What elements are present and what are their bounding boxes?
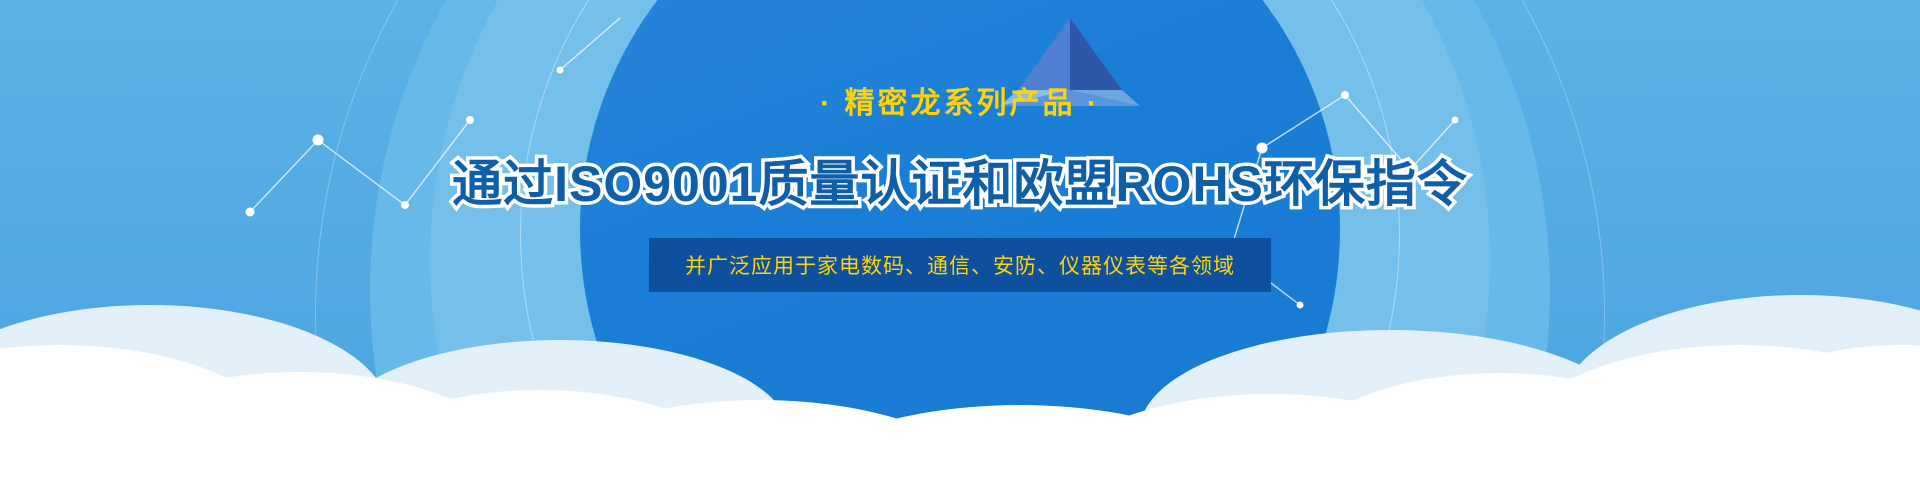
banner-headline: 通过ISO9001质量认证和欧盟ROHS环保指令	[0, 144, 1920, 216]
banner-tagline: 并广泛应用于家电数码、通信、安防、仪器仪表等各领域	[649, 238, 1271, 292]
promo-banner: · 精密龙系列产品 · 通过ISO9001质量认证和欧盟ROHS环保指令 并广泛…	[0, 0, 1920, 480]
banner-content: · 精密龙系列产品 · 通过ISO9001质量认证和欧盟ROHS环保指令 并广泛…	[0, 0, 1920, 480]
banner-subtitle: · 精密龙系列产品 ·	[0, 78, 1920, 122]
banner-tagline-container: 并广泛应用于家电数码、通信、安防、仪器仪表等各领域	[649, 238, 1271, 292]
